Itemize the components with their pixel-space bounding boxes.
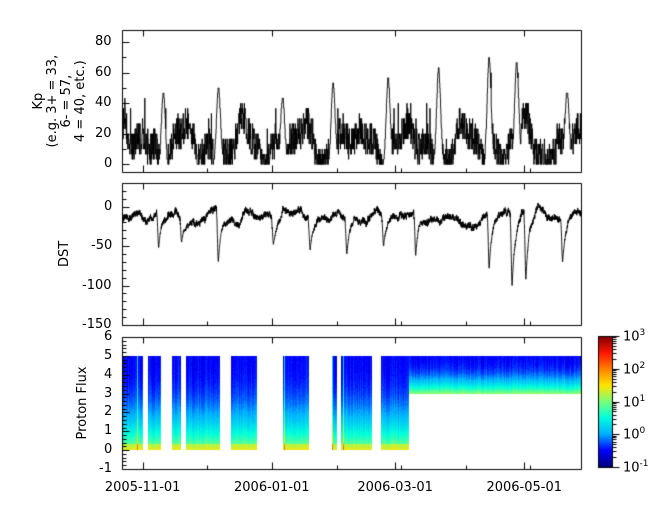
axis-tick-label: -50 <box>91 238 112 253</box>
axis-label-line: Kp <box>32 55 46 148</box>
axis-tick-label: 40 <box>95 95 112 110</box>
axis-tick-label: 0 <box>104 199 112 214</box>
space-weather-figure: Kp(e.g. 3+ = 33,6- = 57,4 = 40, etc.) DS… <box>0 0 665 523</box>
axis-label-line: 4 = 40, etc.) <box>74 55 88 148</box>
axis-tick-label: 2006-05-01 <box>486 480 562 495</box>
axis-tick-label: 2006-03-01 <box>357 480 433 495</box>
axis-tick-label: 80 <box>95 34 112 49</box>
colorbar-tick-label: 101 <box>623 394 645 410</box>
axis-tick-label: 4 <box>104 367 112 382</box>
axis-tick-label: 2006-01-01 <box>234 480 310 495</box>
colorbar-tick-label: 100 <box>623 426 645 442</box>
axis-tick-label: 6 <box>104 329 112 344</box>
axis-tick-label: 0 <box>104 156 112 171</box>
axis-tick-label: -1 <box>99 461 112 476</box>
axis-label-line: (e.g. 3+ = 33, <box>46 55 60 148</box>
axis-tick-label: 0 <box>104 442 112 457</box>
proton-flux-axis-label: Proton Flux <box>76 366 90 439</box>
axis-tick-label: 1 <box>104 423 112 438</box>
axis-tick-label: 5 <box>104 348 112 363</box>
axis-tick-label: 20 <box>95 126 112 141</box>
axis-label-line: Proton Flux <box>76 366 90 439</box>
axis-tick-label: 2005-11-01 <box>105 480 181 495</box>
colorbar-tick-label: 10-1 <box>623 459 649 475</box>
axis-tick-label: 3 <box>104 386 112 401</box>
dst-axis-label: DST <box>58 241 72 267</box>
axis-tick-label: -100 <box>82 278 112 293</box>
axis-label-line: DST <box>58 241 72 267</box>
axis-tick-label: 60 <box>95 65 112 80</box>
kp-axis-label: Kp(e.g. 3+ = 33,6- = 57,4 = 40, etc.) <box>32 55 88 148</box>
colorbar-tick-label: 103 <box>623 328 645 344</box>
axis-tick-label: 2 <box>104 404 112 419</box>
colorbar-tick-label: 102 <box>623 361 645 377</box>
axis-label-line: 6- = 57, <box>60 55 74 148</box>
